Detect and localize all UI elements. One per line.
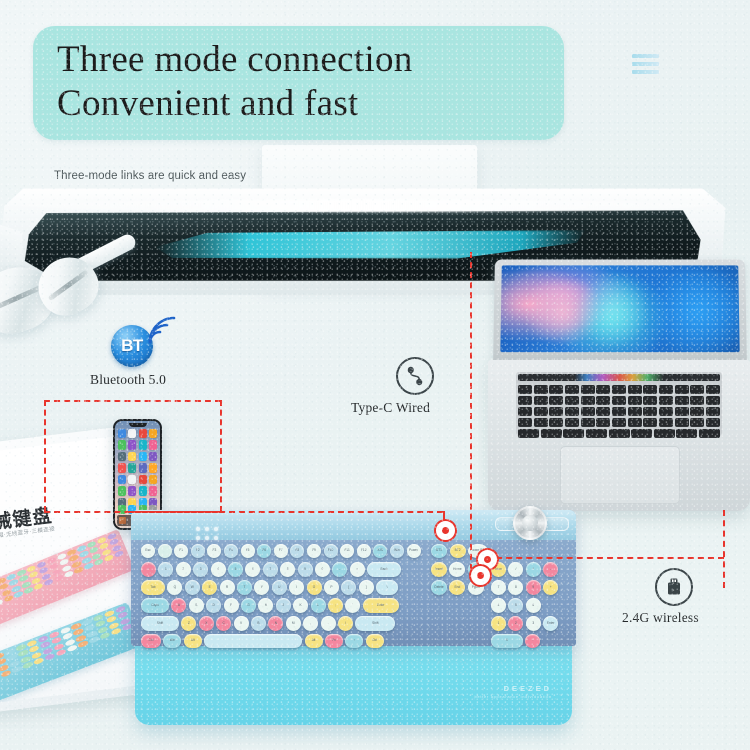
hamburger-bar <box>632 62 659 66</box>
laptop-key-row <box>518 418 720 427</box>
keyboard-key[interactable]: ~ <box>141 562 156 577</box>
keyboard-key[interactable]: E <box>202 580 217 595</box>
keyboard-key[interactable]: F3 <box>207 544 221 558</box>
keyboard-key[interactable]: Ctrl <box>141 634 161 648</box>
keyboard-key[interactable]: + <box>543 580 558 595</box>
app-icon <box>118 452 126 461</box>
keyboard-key[interactable]: X <box>199 616 214 631</box>
keyboard-key[interactable]: = <box>350 562 365 577</box>
keyboard-key[interactable]: F8 <box>290 544 304 558</box>
keyboard-key[interactable]: - <box>543 562 558 577</box>
keyboard-key[interactable]: ' <box>345 598 360 613</box>
laptop-key <box>596 418 610 427</box>
keyboard-key[interactable]: K <box>293 598 308 613</box>
keyboard-key[interactable]: . <box>525 634 540 648</box>
keyboard-key[interactable]: - <box>332 562 347 577</box>
laptop-key <box>581 407 595 416</box>
keyboard-key[interactable]: Insert <box>431 562 447 577</box>
keyboard-key[interactable]: W <box>185 580 200 595</box>
keyboard-key[interactable]: iOS <box>373 544 387 558</box>
keyboard-key[interactable]: / <box>338 616 353 631</box>
keyboard-key[interactable]: Win <box>163 634 181 648</box>
laptop-key <box>643 418 657 427</box>
keyboard-key[interactable]: 2 <box>176 562 191 577</box>
keyboard-key-row: 0. <box>491 634 540 648</box>
keycap-dots <box>0 605 132 683</box>
bluetooth-to-keyboard <box>130 511 443 513</box>
keyboard-key[interactable]: 0 <box>315 562 330 577</box>
keyboard-key[interactable]: T <box>237 580 252 595</box>
keyboard-key-row: CapsASDFGHJKL;'Enter <box>141 598 399 613</box>
app-icon <box>139 452 147 461</box>
keyboard-key[interactable]: 6 <box>245 562 260 577</box>
app-icon <box>149 452 157 461</box>
keyboard-key[interactable]: / <box>508 562 523 577</box>
keyboard-key[interactable]: Enter <box>543 616 558 631</box>
laptop-key-row <box>518 429 720 438</box>
laptop-base <box>488 360 750 511</box>
laptop-key <box>596 407 610 416</box>
laptop-key-row <box>518 396 720 405</box>
laptop-key <box>612 407 626 416</box>
keyboard-key[interactable]: C <box>216 616 231 631</box>
wallpaper-swirl-blue <box>644 269 740 352</box>
laptop-key <box>628 396 642 405</box>
keyboard-key[interactable]: H <box>258 598 273 613</box>
app-icon <box>118 486 126 495</box>
keyboard-key[interactable]: 7 <box>263 562 278 577</box>
keyboard-key[interactable]: A <box>171 598 186 613</box>
app-icon <box>118 463 126 472</box>
keyboard-key[interactable]: Home <box>449 562 465 577</box>
laptop-key <box>518 429 539 438</box>
keyboard-key[interactable]: Alt <box>305 634 323 648</box>
phone-notch <box>129 423 147 427</box>
keyboard-key[interactable]: M <box>286 616 301 631</box>
keyboard-key[interactable]: B <box>251 616 266 631</box>
keyboard-key[interactable]: [ <box>341 580 356 595</box>
laptop-key-row <box>518 407 720 416</box>
laptop-key <box>706 396 720 405</box>
keyboard-key-row: 789+ <box>491 580 558 595</box>
typec-label: Type-C Wired <box>351 400 430 416</box>
keyboard-key[interactable]: Esc <box>141 544 155 558</box>
laptop-key <box>659 407 673 416</box>
keyboard-key[interactable]: Shift <box>141 616 179 631</box>
laptop-key <box>628 407 642 416</box>
volume-knob[interactable] <box>513 506 547 540</box>
app-icon <box>139 429 147 438</box>
keyboard-key[interactable]: BT2 <box>450 544 466 558</box>
keyboard-key[interactable]: V <box>234 616 249 631</box>
keyboard-key[interactable]: 2 <box>508 616 523 631</box>
tablet-product-keyboard-blue <box>0 602 144 704</box>
keyboard-key[interactable]: O <box>307 580 322 595</box>
keyboard-key[interactable]: \ <box>376 580 398 595</box>
keyboard-key[interactable]: Enter <box>363 598 399 613</box>
bluetooth-badge-text: BT <box>121 336 143 356</box>
keyboard-key[interactable]: F9 <box>307 544 321 558</box>
laptop-key <box>581 396 595 405</box>
laptop-key <box>581 418 595 427</box>
app-icon <box>149 486 157 495</box>
laptop-key <box>586 429 607 438</box>
indicator-led <box>196 527 200 531</box>
keyboard-key[interactable]: 4 <box>211 562 226 577</box>
keyboard-key[interactable]: End <box>449 580 465 595</box>
marker-typec <box>469 564 492 587</box>
app-icon <box>139 486 147 495</box>
laptop-key <box>596 396 610 405</box>
laptop-key <box>541 429 562 438</box>
keyboard-key[interactable]: 6 <box>526 598 541 613</box>
keyboard-key[interactable]: 1 <box>158 562 173 577</box>
keyboard-key[interactable]: 1 <box>491 616 506 631</box>
laptop-key <box>565 385 579 394</box>
laptop-key <box>659 385 673 394</box>
laptop-key <box>675 396 689 405</box>
headline-line-2: Convenient and fast <box>57 84 359 124</box>
keyboard-key[interactable]: F6 <box>257 544 271 558</box>
keyboard-key[interactable] <box>158 544 172 558</box>
laptop-screen <box>500 265 739 352</box>
keyboard-key[interactable]: 9 <box>298 562 313 577</box>
laptop-key <box>549 418 563 427</box>
keyboard-key[interactable]: F12 <box>357 544 371 558</box>
keyboard-key-row: CtrlWinAltAltFn↑Ctrl <box>141 634 384 648</box>
indicator-led <box>205 527 209 531</box>
keyboard-key-row: TabQWERTYUIOP[]\ <box>141 580 398 595</box>
laptop-key <box>706 418 720 427</box>
laptop-key <box>690 396 704 405</box>
wireless-route-segment <box>486 557 724 559</box>
keyboard-key[interactable]: F2 <box>191 544 205 558</box>
keyboard-key[interactable]: Fn <box>325 634 343 648</box>
app-icon <box>128 440 136 449</box>
keyboard-key[interactable]: D <box>206 598 221 613</box>
keyboard-key[interactable]: S <box>189 598 204 613</box>
app-icon <box>139 440 147 449</box>
laptop-key <box>549 396 563 405</box>
laptop-key <box>675 407 689 416</box>
laptop-key <box>534 418 548 427</box>
usb-c-cable-icon <box>396 357 434 395</box>
laptop-key <box>643 407 657 416</box>
app-icon <box>139 463 147 472</box>
keyboard-key[interactable]: F10 <box>324 544 338 558</box>
typec-route-vertical <box>470 252 472 570</box>
keyboard-key[interactable]: 8 <box>508 580 523 595</box>
bluetooth-route-segment <box>44 400 46 512</box>
laptop-trackpad <box>560 446 680 504</box>
keyboard-key[interactable]: U <box>272 580 287 595</box>
keyboard-key-row: 456 <box>491 598 541 613</box>
indicator-led <box>214 527 218 531</box>
keyboard-key[interactable]: Y <box>254 580 269 595</box>
keyboard-key[interactable]: Q <box>167 580 182 595</box>
laptop-key <box>706 407 720 416</box>
laptop-key <box>612 396 626 405</box>
laptop-lid <box>493 260 747 364</box>
app-icon <box>128 452 136 461</box>
laptop-key <box>563 429 584 438</box>
laptop-key <box>518 418 532 427</box>
laptop-key <box>659 418 673 427</box>
indicator-led <box>205 536 209 540</box>
keyboard-key[interactable]: Delete <box>431 580 447 595</box>
keyboard-key[interactable]: 5 <box>508 598 523 613</box>
headline-line-1: Three mode connection <box>57 40 413 80</box>
keyboard-key[interactable]: F4 <box>224 544 238 558</box>
keyboard-key[interactable]: , <box>303 616 318 631</box>
keyboard-key[interactable]: * <box>526 562 541 577</box>
laptop-key <box>690 385 704 394</box>
wireless-label: 2.4G wireless <box>622 610 699 626</box>
app-icon <box>149 440 157 449</box>
keyboard-key[interactable]: ; <box>328 598 343 613</box>
laptop-key <box>628 418 642 427</box>
laptop-key <box>643 396 657 405</box>
laptop-key <box>612 385 626 394</box>
product-keycap <box>0 599 4 607</box>
app-icon <box>149 475 157 484</box>
keyboard-key[interactable]: 0 <box>491 634 523 648</box>
keyboard-key[interactable]: Z <box>181 616 196 631</box>
bluetooth-route-segment <box>220 400 222 512</box>
laptop-key-row <box>518 385 720 394</box>
keyboard-key[interactable]: Shift <box>355 616 395 631</box>
app-icon <box>118 440 126 449</box>
app-icon <box>149 463 157 472</box>
keyboard-key[interactable]: Caps <box>141 598 169 613</box>
laptop-key <box>565 396 579 405</box>
keyboard-key[interactable]: BT1 <box>431 544 447 558</box>
keyboard-key[interactable]: Win <box>390 544 404 558</box>
laptop-key <box>690 407 704 416</box>
laptop-key <box>612 418 626 427</box>
keyboard-key[interactable]: F7 <box>274 544 288 558</box>
app-icon <box>128 475 136 484</box>
laptop-key <box>549 385 563 394</box>
laptop-key <box>534 385 548 394</box>
laptop-key <box>675 385 689 394</box>
indicator-led <box>214 536 218 540</box>
keyboard-key[interactable]: . <box>321 616 336 631</box>
keyboard-key[interactable]: P <box>324 580 339 595</box>
keyboard-key[interactable]: N <box>268 616 283 631</box>
keyboard-key-row: ShiftZXCVBNM,./Shift <box>141 616 395 631</box>
wireless-keyboard: DEEZED better appearance individuation E… <box>131 510 576 725</box>
laptop-key <box>518 407 532 416</box>
app-icon <box>149 429 157 438</box>
keyboard-key[interactable]: 8 <box>280 562 295 577</box>
app-icon <box>118 475 126 484</box>
sub-caption: Three-mode links are quick and easy <box>54 170 246 182</box>
keyboard-key-row: Num/*- <box>491 562 558 577</box>
laptop-key <box>628 385 642 394</box>
wireless-route-segment <box>723 510 725 588</box>
headline-banner: Three mode connection Convenient and fas… <box>33 26 564 140</box>
app-icon <box>128 486 136 495</box>
keyboard-key[interactable]: F11 <box>340 544 354 558</box>
keyboard-key[interactable]: 7 <box>491 580 506 595</box>
keyboard-palm-rest: DEEZED better appearance individuation <box>135 638 572 725</box>
keyboard-key[interactable]: 4 <box>491 598 506 613</box>
laptop-key <box>659 396 673 405</box>
laptop-key <box>643 385 657 394</box>
keyboard-key[interactable]: G <box>241 598 256 613</box>
keyboard-key[interactable] <box>204 634 302 648</box>
brand-tagline: better appearance individuation <box>474 694 552 699</box>
keyboard-key[interactable]: Power <box>407 544 421 558</box>
laptop-key <box>609 429 630 438</box>
marker-bluetooth <box>434 519 457 542</box>
keyboard-key[interactable]: 3 <box>526 616 541 631</box>
app-icon <box>139 475 147 484</box>
hamburger-bar <box>632 70 659 74</box>
brand-name: DEEZED <box>474 684 552 693</box>
phone-app-grid <box>118 429 157 507</box>
bluetooth-signal-icon <box>146 312 180 346</box>
usb-dongle-icon <box>655 568 693 606</box>
bluetooth-route-segment <box>44 400 221 402</box>
hamburger-menu-icon[interactable] <box>632 54 659 74</box>
keyboard-brand: DEEZED better appearance individuation <box>474 684 552 699</box>
laptop-key <box>565 407 579 416</box>
laptop-key <box>534 396 548 405</box>
laptop-key <box>518 385 532 394</box>
laptop-key <box>690 418 704 427</box>
laptop-key <box>654 429 675 438</box>
keyboard-key-row: 123Enter <box>491 616 558 631</box>
laptop-key <box>699 429 720 438</box>
keyboard-key[interactable]: Ctrl <box>366 634 384 648</box>
laptop-key <box>534 407 548 416</box>
keyboard-key[interactable]: J <box>276 598 291 613</box>
keyboard-key[interactable]: Alt <box>184 634 202 648</box>
laptop-key <box>565 418 579 427</box>
keyboard-key[interactable]: ] <box>359 580 374 595</box>
keyboard-key[interactable]: Tab <box>141 580 165 595</box>
laptop-key <box>631 429 652 438</box>
hamburger-bar <box>632 54 659 58</box>
laptop-key <box>549 407 563 416</box>
app-icon <box>118 429 126 438</box>
keyboard-key[interactable]: 9 <box>526 580 541 595</box>
keyboard-key[interactable]: Back <box>367 562 401 577</box>
laptop-key <box>581 385 595 394</box>
keyboard-key[interactable]: R <box>220 580 235 595</box>
laptop-key <box>675 418 689 427</box>
keyboard-key[interactable]: F5 <box>241 544 255 558</box>
indicator-led <box>196 536 200 540</box>
keyboard-key-row: EscF1F2F3F4F5F6F7F8F9F10F11F12iOSWinPowe… <box>141 544 421 558</box>
app-icon <box>128 429 136 438</box>
keyboard-key[interactable]: ↑ <box>345 634 363 648</box>
laptop-key <box>706 385 720 394</box>
keyboard-key[interactable]: I <box>289 580 304 595</box>
keyboard-key[interactable]: F1 <box>174 544 188 558</box>
laptop-key <box>596 385 610 394</box>
laptop-key <box>518 396 532 405</box>
app-icon <box>128 463 136 472</box>
laptop-touchbar <box>518 374 720 381</box>
keyboard-key[interactable]: 3 <box>193 562 208 577</box>
laptop-key <box>676 429 697 438</box>
keyboard-key[interactable]: F <box>224 598 239 613</box>
keyboard-key[interactable]: L <box>311 598 326 613</box>
bluetooth-label: Bluetooth 5.0 <box>90 372 166 388</box>
keyboard-key-row: ~1234567890-=Back <box>141 562 401 577</box>
wallpaper-swirl-cyan <box>572 274 653 347</box>
macbook-laptop <box>488 259 750 511</box>
keyboard-key[interactable]: 5 <box>228 562 243 577</box>
product-marketing-image: 1 热销 · 优选 机械键盘 复古圆键帽·无线蓝牙·三模连接 DEEZED be… <box>0 0 750 750</box>
